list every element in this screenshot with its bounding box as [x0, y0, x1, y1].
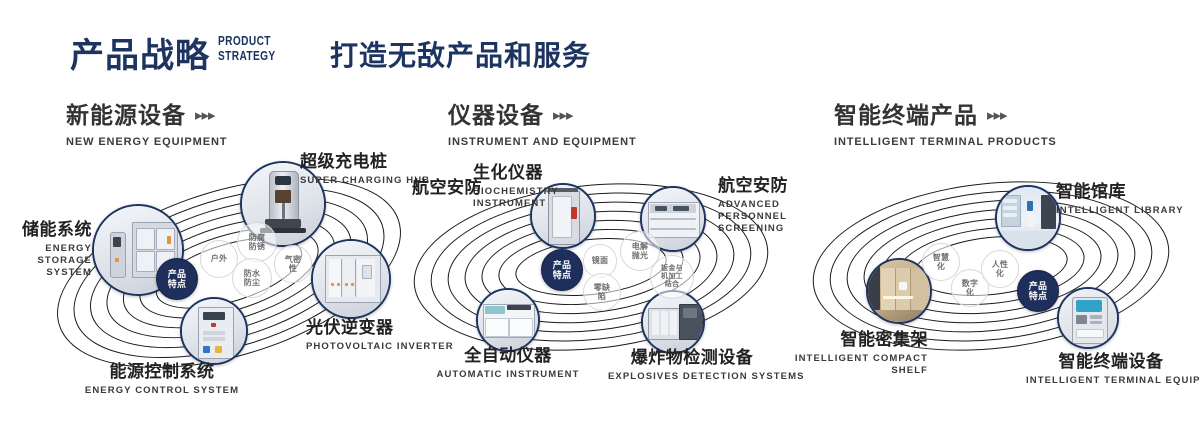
feature-bubble-product-features[interactable]: 产品特点	[156, 258, 198, 300]
label-energy-control-system: 能源控制系统 ENERGY CONTROL SYSTEM	[82, 362, 242, 397]
feature-bubble-humanized[interactable]: 人性化	[981, 250, 1019, 288]
feature-bubble-text: 气密性	[281, 255, 305, 273]
page-slogan: 打造无敌产品和服务	[330, 34, 591, 74]
section-heading-cn-text: 智能终端产品	[834, 102, 978, 128]
smart-library-room-icon	[997, 187, 1059, 249]
label-cn: 智能密集架	[790, 330, 928, 350]
node-energy-control-system[interactable]	[180, 297, 248, 365]
feature-bubble-product-features[interactable]: 产品特点	[1017, 270, 1059, 312]
section-heading-intelligent-terminal: 智能终端产品▸▸▸ INTELLIGENT TERMINAL PRODUCTS	[834, 96, 1057, 148]
feature-bubble-waterproof-dustproof[interactable]: 防水防尘	[232, 258, 272, 298]
label-en: EXPLOSIVES DETECTION SYSTEMS	[608, 371, 776, 383]
node-intelligent-terminal-equipment[interactable]	[1057, 287, 1119, 349]
label-cn: 生化仪器	[473, 163, 565, 183]
poster-canvas: 产品战略 PRODUCT STRATEGY 打造无敌产品和服务 新能源设备▸▸▸…	[0, 0, 1200, 422]
section-heading-cn: 新能源设备▸▸▸	[66, 96, 227, 130]
chevrons-icon: ▸▸▸	[553, 106, 573, 124]
label-aviation-security-left: 航空安防	[412, 178, 482, 198]
label-en: ENERGY CONTROL SYSTEM	[82, 385, 242, 397]
node-automatic-instrument[interactable]	[476, 288, 540, 352]
label-cn: 超级充电桩	[300, 152, 430, 172]
section-heading-cn-text: 新能源设备	[66, 102, 186, 128]
section-heading-cn: 智能终端产品▸▸▸	[834, 96, 1057, 130]
feature-bubble-text: 智慧化	[929, 253, 953, 271]
section-heading-instrument: 仪器设备▸▸▸ INSTRUMENT AND EQUIPMENT	[448, 96, 637, 148]
label-cn: 光伏逆变器	[306, 318, 454, 338]
feature-bubble-text: 镜面	[592, 256, 609, 265]
label-en: ADVANCED PERSONNEL SCREENING	[718, 199, 816, 235]
section-heading-cn: 仪器设备▸▸▸	[448, 96, 637, 130]
feature-bubble-text: 产品特点	[549, 260, 575, 281]
label-super-charging-hub: 超级充电桩 SUPER CHARGING HUB	[300, 152, 430, 187]
feature-bubble-text: 零缺陷	[590, 283, 614, 301]
label-automatic-instrument: 全自动仪器 AUTOMATIC INSTRUMENT	[424, 346, 592, 381]
feature-bubble-text: 防水防尘	[242, 269, 262, 287]
section-heading-cn-text: 仪器设备	[448, 102, 544, 128]
feature-bubble-text: 户外	[211, 254, 228, 263]
feature-bubble-text: 数字化	[958, 279, 982, 297]
section-heading-en: INTELLIGENT TERMINAL PRODUCTS	[834, 136, 1057, 148]
feature-bubble-text: 电解抛光	[630, 242, 650, 260]
feature-bubble-sheetmetal-machining[interactable]: 钣金与机加工结合	[650, 255, 694, 299]
control-cabinet-icon	[182, 299, 246, 363]
feature-bubble-text: 人性化	[988, 260, 1012, 278]
label-en: INTELLIGENT COMPACT SHELF	[790, 353, 928, 377]
label-cn: 智能馆库	[1056, 182, 1184, 202]
label-biochemistry-instrument: 生化仪器 BIOCHEMISTRY INSTRUMENT	[473, 163, 565, 210]
label-en: SUPER CHARGING HUB	[300, 175, 430, 187]
label-advanced-personnel-screening: 航空安防 ADVANCED PERSONNEL SCREENING	[718, 176, 816, 235]
feature-bubble-airtightness[interactable]: 气密性	[274, 245, 312, 283]
label-en: INTELLIGENT LIBRARY	[1056, 205, 1184, 217]
compact-shelving-icon	[868, 260, 930, 322]
label-en: AUTOMATIC INSTRUMENT	[424, 369, 592, 381]
pv-inverter-cabinet-icon	[313, 241, 389, 317]
node-photovoltaic-inverter[interactable]	[311, 239, 391, 319]
feature-bubble-text: 防腐防锈	[247, 233, 267, 251]
page-title-english-line1: PRODUCT	[218, 33, 300, 48]
section-heading-new-energy: 新能源设备▸▸▸ NEW ENERGY EQUIPMENT	[66, 96, 227, 148]
page-title-english: PRODUCT STRATEGY	[218, 33, 300, 63]
label-cn: 航空安防	[412, 178, 482, 198]
label-energy-storage-system: 储能系统 ENERGY STORAGE SYSTEM	[0, 220, 92, 279]
label-intelligent-compact-shelf: 智能密集架 INTELLIGENT COMPACT SHELF	[790, 330, 928, 377]
label-en: BIOCHEMISTRY INSTRUMENT	[473, 186, 565, 210]
feature-bubble-anticorrosion[interactable]: 防腐防锈	[237, 222, 277, 262]
label-cn: 航空安防	[718, 176, 816, 196]
feature-bubble-zero-defect[interactable]: 零缺陷	[583, 273, 621, 311]
feature-bubble-text: 钣金与机加工结合	[658, 265, 686, 289]
node-explosives-detection-systems[interactable]	[641, 290, 705, 354]
label-explosives-detection-systems: 爆炸物检测设备 EXPLOSIVES DETECTION SYSTEMS	[608, 348, 776, 383]
label-cn: 全自动仪器	[424, 346, 592, 366]
chevrons-icon: ▸▸▸	[987, 106, 1007, 124]
label-intelligent-library: 智能馆库 INTELLIGENT LIBRARY	[1056, 182, 1184, 217]
feature-bubble-product-features[interactable]: 产品特点	[541, 249, 583, 291]
explosive-detector-icon	[643, 292, 703, 352]
feature-bubble-text: 产品特点	[1025, 281, 1051, 302]
label-cn: 储能系统	[0, 220, 92, 240]
label-intelligent-terminal-equipment: 智能终端设备 INTELLIGENT TERMINAL EQUIPMENT	[1026, 352, 1196, 387]
automatic-analyzer-icon	[478, 290, 538, 350]
page-title: 产品战略	[70, 28, 210, 77]
label-cn: 爆炸物检测设备	[608, 348, 776, 368]
section-heading-en: INSTRUMENT AND EQUIPMENT	[448, 136, 637, 148]
feature-bubble-text: 产品特点	[164, 269, 190, 290]
label-cn: 智能终端设备	[1026, 352, 1196, 372]
label-en: ENERGY STORAGE SYSTEM	[0, 243, 92, 279]
page-title-english-line2: STRATEGY	[218, 48, 300, 63]
label-en: INTELLIGENT TERMINAL EQUIPMENT	[1026, 375, 1196, 387]
self-service-kiosk-icon	[1059, 289, 1117, 347]
chevrons-icon: ▸▸▸	[195, 106, 215, 124]
label-cn: 能源控制系统	[82, 362, 242, 382]
node-intelligent-library[interactable]	[995, 185, 1061, 251]
section-heading-en: NEW ENERGY EQUIPMENT	[66, 136, 227, 148]
